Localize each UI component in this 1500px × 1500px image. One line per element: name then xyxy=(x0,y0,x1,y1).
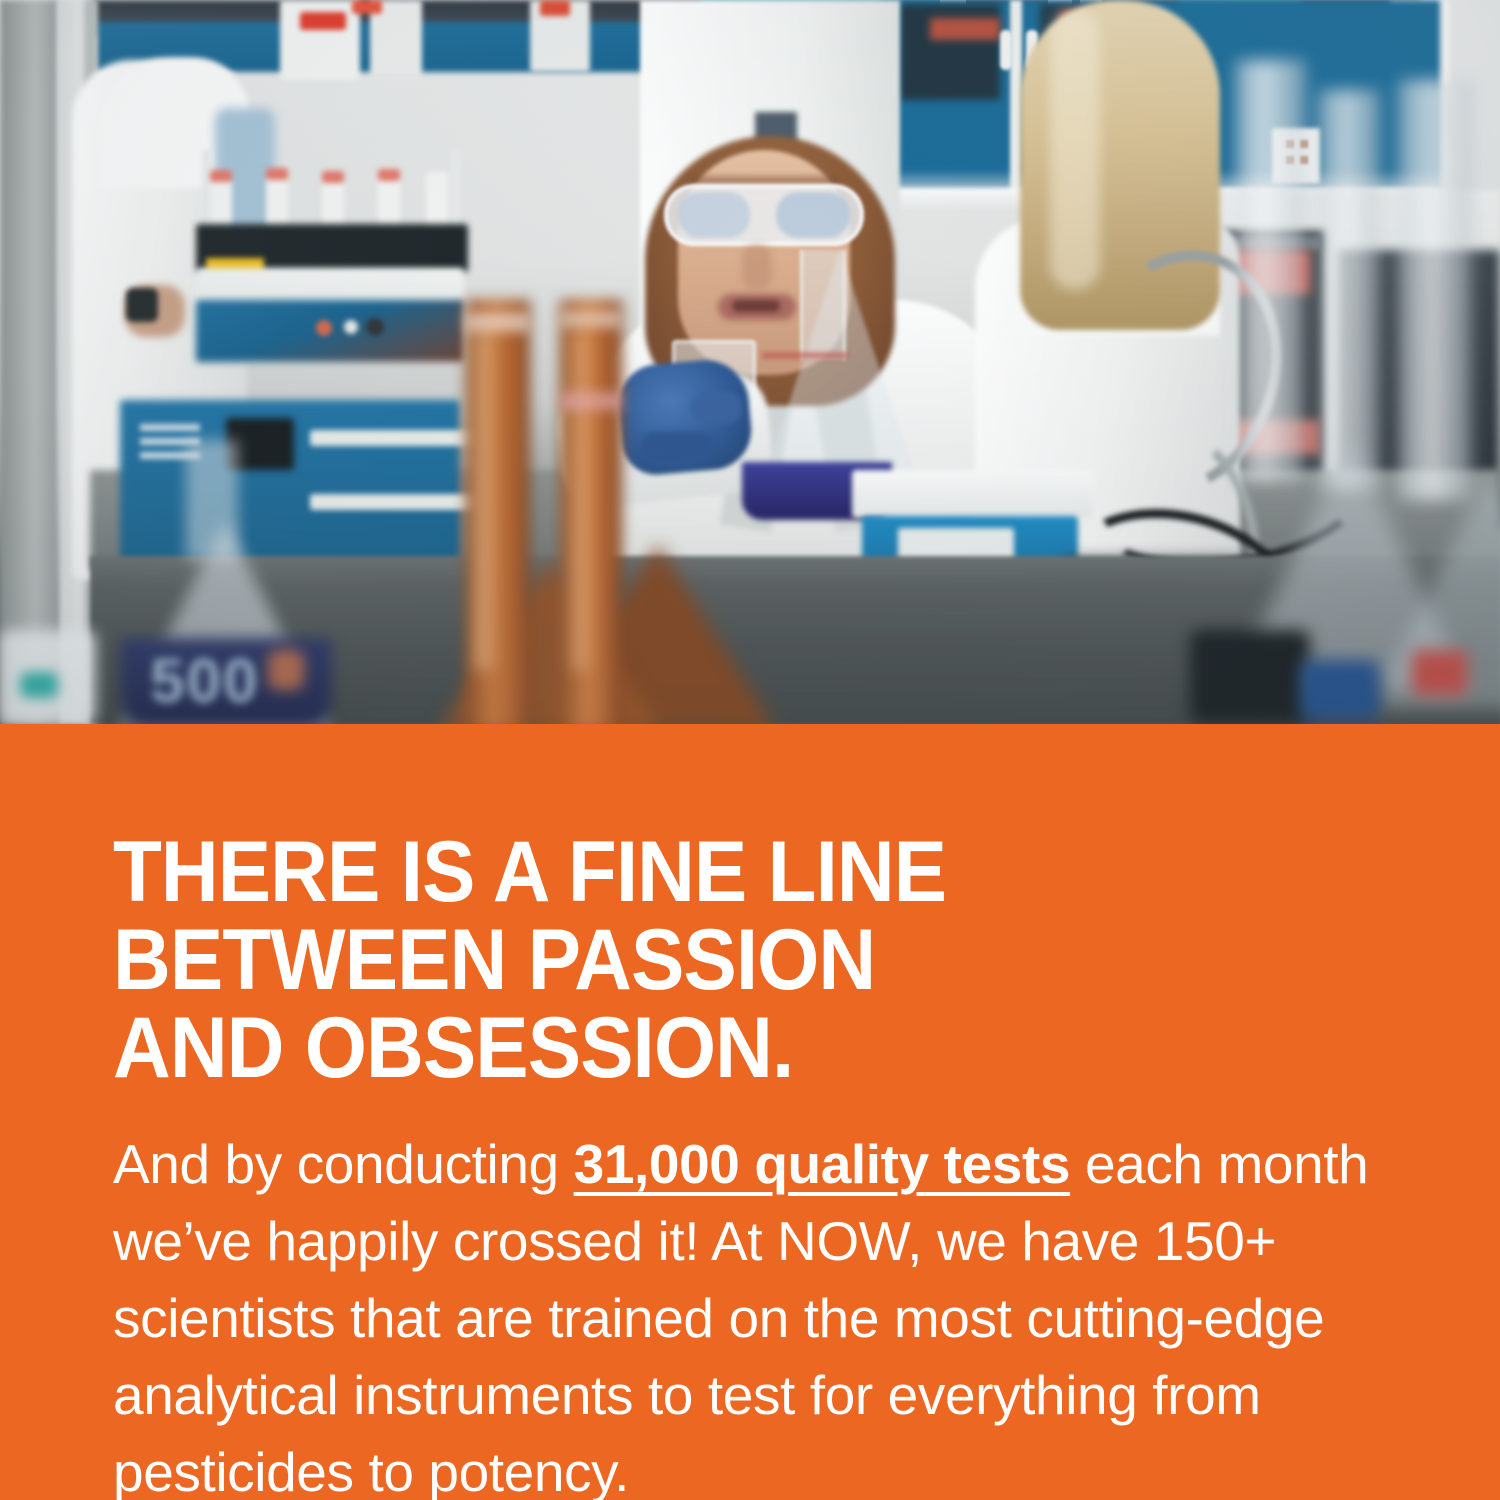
sample-vial-row xyxy=(210,168,450,232)
amber-flask-highlight xyxy=(474,330,492,670)
scientist-right-hair-highlight xyxy=(1050,10,1100,290)
amber-flask-ring xyxy=(466,312,530,332)
reagent-bottle-label xyxy=(352,0,382,14)
page-title: THERE IS A FINE LINE BETWEEN PASSION AND… xyxy=(113,828,1322,1092)
goggle-lens xyxy=(776,192,850,238)
body-copy: And by conducting 31,000 quality tests e… xyxy=(113,1126,1403,1500)
door-frame-post xyxy=(0,0,58,724)
reagent-bottle-label xyxy=(300,12,346,30)
orange-message-panel: THERE IS A FINE LINE BETWEEN PASSION AND… xyxy=(0,724,1500,1500)
body-copy-lead: And by conducting xyxy=(113,1133,574,1195)
instrument-knob xyxy=(344,320,358,334)
analytical-balance-top xyxy=(852,470,1092,518)
instrument-knob xyxy=(366,318,384,336)
glove-finger xyxy=(640,432,714,462)
instrument-knob xyxy=(316,320,332,336)
flask-graduation-mark xyxy=(762,352,848,359)
sample-vial-cap xyxy=(322,171,344,183)
promotional-card: 500 THERE IS A FINE LINE BETWEEN PASSION… xyxy=(0,0,1500,1500)
sample-vial-cap xyxy=(378,169,400,181)
foreground-blue-object xyxy=(1300,660,1380,720)
reagent-bottle-label xyxy=(540,0,570,16)
foreground-red-object xyxy=(1412,650,1468,696)
flask-orange-reflection xyxy=(268,650,304,690)
foreground-dark-object xyxy=(1190,630,1310,724)
drawer-vent-line xyxy=(140,424,200,431)
sample-vial-cap xyxy=(266,168,288,180)
laboratory-photo: 500 xyxy=(0,0,1500,724)
sample-vial-cap xyxy=(210,170,232,182)
stat-highlight-quality-tests: 31,000 quality tests xyxy=(574,1133,1070,1195)
cabinet-handle xyxy=(1000,30,1012,70)
goggle-lens xyxy=(678,192,750,238)
volumetric-flask-500-label: 500 xyxy=(150,652,270,712)
scientist-left-held-object xyxy=(126,288,158,322)
foreground-glassware xyxy=(1236,60,1306,480)
foreground-glassware xyxy=(1398,80,1472,500)
erlenmeyer-flask-neck xyxy=(800,250,846,360)
drawer-handle xyxy=(310,494,490,510)
amber-flask-ring xyxy=(560,392,622,410)
amber-flask-highlight xyxy=(572,330,588,670)
cabinet-contents xyxy=(930,18,1000,40)
drawer-handle xyxy=(310,430,490,446)
foreground-glassware xyxy=(1318,90,1380,490)
foreground-teal-cap xyxy=(20,672,58,698)
amber-flask-neck xyxy=(560,300,622,724)
glove-finger xyxy=(690,392,742,424)
amber-flask-ring xyxy=(560,310,622,328)
